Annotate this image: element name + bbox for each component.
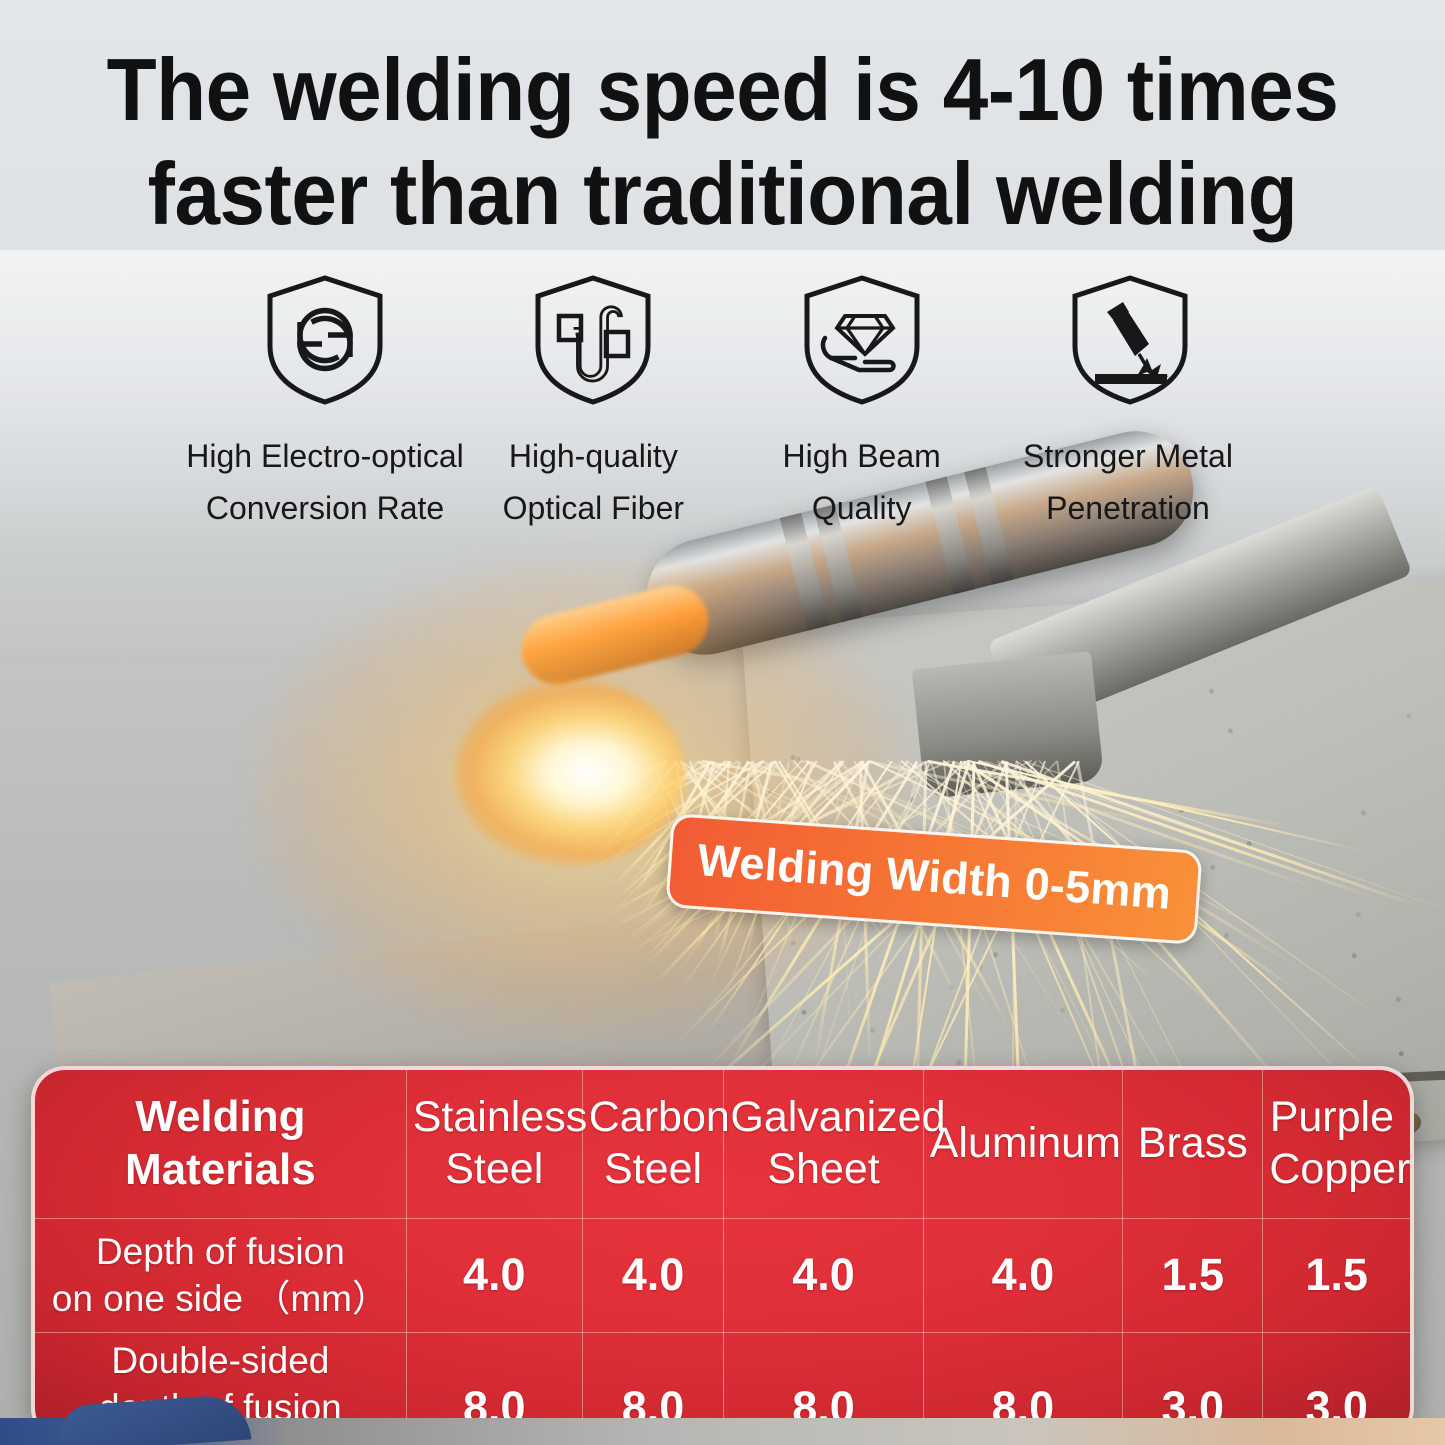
promo-banner: The welding speed is 4-10 times faster t… (0, 0, 1445, 1445)
optical-fiber-icon (468, 272, 718, 407)
corner-line-2: Materials (41, 1144, 400, 1197)
spark-burst-core (455, 680, 685, 865)
row-1-line-1: Double-sided (111, 1340, 329, 1381)
col-2-line-1: Galvanized (730, 1093, 945, 1141)
cell-r0-brass: 1.5 (1123, 1218, 1263, 1332)
row-0-line-2: on one side （mm） (41, 1275, 400, 1322)
col-header-aluminum: Aluminum (923, 1070, 1122, 1218)
row-header-single-side-depth: Depth of fusion on one side （mm） (35, 1218, 406, 1332)
page-title: The welding speed is 4-10 times faster t… (51, 38, 1395, 246)
feature-item-beam-quality: High Beam Quality (737, 272, 987, 535)
col-0-line-2: Steel (413, 1144, 576, 1196)
feature-label-metal-penetration: Stronger Metal Penetration (983, 431, 1273, 535)
col-2-line-2: Sheet (730, 1144, 916, 1196)
table-header-row: Welding Materials Stainless Steel Carbon… (35, 1070, 1410, 1218)
col-header-carbon-steel: Carbon Steel (582, 1070, 724, 1218)
headline-line-1: The welding speed is 4-10 times (107, 40, 1339, 139)
feature-label-beam-quality: High Beam Quality (752, 431, 972, 535)
corner-line-1: Welding (135, 1092, 305, 1141)
table-body: Depth of fusion on one side （mm） 4.0 4.0… (35, 1218, 1410, 1442)
col-4-line-1: Brass (1138, 1119, 1248, 1167)
col-5-line-2: Copper (1269, 1144, 1394, 1196)
cell-r0-purple-copper: 1.5 (1263, 1218, 1410, 1332)
feature-item-metal-penetration: Stronger Metal Penetration (1005, 272, 1255, 535)
col-3-line-1: Aluminum (930, 1119, 1121, 1167)
feature-list: High Electro-optical Conversion Rate Hig… (200, 272, 1255, 535)
col-header-galvanized-sheet: Galvanized Sheet (724, 1070, 923, 1218)
cell-r0-galvanized-sheet: 4.0 (724, 1218, 923, 1332)
col-header-purple-copper: Purple Copper (1263, 1070, 1410, 1218)
col-header-stainless-steel: Stainless Steel (406, 1070, 582, 1218)
col-0-line-1: Stainless (413, 1093, 587, 1141)
cell-r0-aluminum: 4.0 (923, 1218, 1122, 1332)
feature-label-optical-fiber: High-quality Optical Fiber (468, 431, 718, 535)
cell-r0-stainless-steel: 4.0 (406, 1218, 582, 1332)
welding-torch-icon (1005, 272, 1255, 407)
feature-item-optical-fiber: High-quality Optical Fiber (468, 272, 718, 535)
feature-item-electro-optical: High Electro-optical Conversion Rate (200, 272, 450, 535)
table-corner-header: Welding Materials (35, 1070, 406, 1218)
row-0-line-1: Depth of fusion (96, 1231, 345, 1272)
cell-r0-carbon-steel: 4.0 (582, 1218, 724, 1332)
welding-materials-table: Welding Materials Stainless Steel Carbon… (35, 1070, 1410, 1442)
spec-table-container: Welding Materials Stainless Steel Carbon… (31, 1066, 1414, 1442)
col-5-line-1: Purple (1270, 1093, 1394, 1141)
col-header-brass: Brass (1123, 1070, 1263, 1218)
hand-gem-icon (737, 272, 987, 407)
table-head: Welding Materials Stainless Steel Carbon… (35, 1070, 1410, 1218)
col-1-line-1: Carbon (589, 1093, 730, 1141)
feature-label-electro-optical: High Electro-optical Conversion Rate (180, 431, 470, 535)
headline-line-2: faster than traditional welding (51, 142, 1395, 246)
col-1-line-2: Steel (589, 1144, 718, 1196)
refresh-cycle-icon (200, 272, 450, 407)
table-row: Depth of fusion on one side （mm） 4.0 4.0… (35, 1218, 1410, 1332)
